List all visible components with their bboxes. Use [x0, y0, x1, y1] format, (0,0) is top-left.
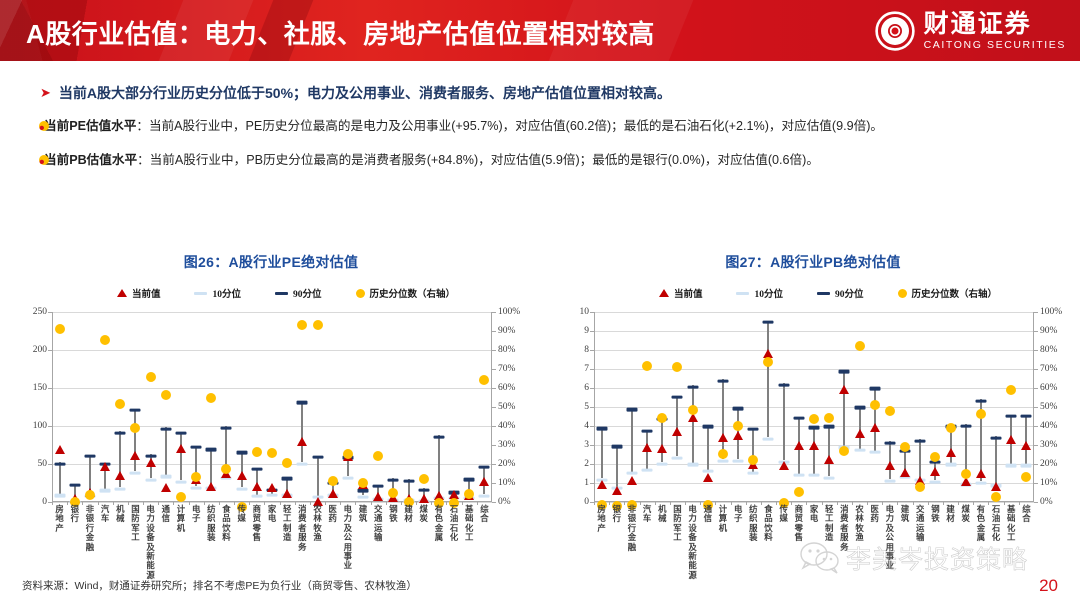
range-stem: [616, 445, 618, 487]
x-axis-category-label: 电力设备及新能源: [687, 505, 698, 580]
bullet-item-pe-label: 当前PE估值水平: [44, 119, 136, 133]
y2-axis-tick: [1034, 369, 1038, 370]
x-axis-tick: [958, 502, 959, 505]
historical-percentile-marker: [267, 448, 277, 458]
y2-axis-tick: [1034, 407, 1038, 408]
y2-axis-tick-label: 60%: [498, 383, 515, 393]
x-axis-category-label: 电力设备及新能源: [145, 505, 156, 580]
bar-light-icon: [736, 292, 749, 295]
gridline: [594, 369, 1034, 370]
historical-percentile-marker: [672, 362, 682, 372]
x-axis-category-label: 银行: [611, 505, 622, 524]
x-axis-category-label: 汽车: [642, 505, 653, 524]
x-axis-category-label: 商贸零售: [251, 505, 262, 543]
x-axis-tick: [867, 502, 868, 505]
percentile-90-marker: [763, 321, 774, 324]
bullet-item-pb-label: 当前PB估值水平: [44, 153, 137, 167]
percentile-10-marker: [236, 487, 247, 490]
bar-dark-icon: [817, 292, 830, 295]
x-axis-category-label: 交通运输: [915, 505, 926, 543]
x-axis-category-label: 食品饮料: [221, 505, 232, 543]
historical-percentile-marker: [991, 492, 1001, 502]
current-value-marker: [794, 441, 804, 450]
x-axis-category-label: 机械: [115, 505, 126, 524]
y2-axis-tick: [1034, 312, 1038, 313]
x-axis-tick: [52, 502, 53, 505]
x-axis-category-label: 有色金属: [975, 505, 986, 543]
gridline: [594, 407, 1034, 408]
x-axis-category-label: 消费者服务: [297, 505, 308, 552]
x-axis-tick: [882, 502, 883, 505]
x-axis-category-label: 机械: [657, 505, 668, 524]
y2-axis-tick: [1034, 502, 1038, 503]
brand-name-cn: 财通证券: [924, 12, 1066, 37]
percentile-10-marker: [945, 463, 956, 466]
current-value-marker: [161, 483, 171, 492]
percentile-10-marker: [733, 459, 744, 462]
range-stem: [874, 387, 876, 451]
legend-item-p90: 90分位: [275, 286, 322, 300]
x-axis-tick: [1019, 502, 1020, 505]
y2-axis-tick: [492, 388, 496, 389]
x-axis-tick: [670, 502, 671, 505]
legend-label-p10: 10分位: [754, 286, 783, 300]
y2-axis-tick-label: 20%: [1040, 459, 1057, 469]
current-value-marker: [176, 444, 186, 453]
bar-light-icon: [194, 292, 207, 295]
percentile-90-marker: [611, 445, 622, 448]
range-stem: [919, 439, 921, 478]
x-axis-category-label: 电力及公用事业: [342, 505, 353, 571]
y-axis-tick-label: 0: [42, 497, 47, 507]
range-stem: [59, 462, 61, 494]
chart-legend-pe: 当前值 10分位 90分位 历史分位数（右轴）: [6, 282, 536, 304]
x-axis-category-label: 煤炭: [960, 505, 971, 524]
current-value-marker: [55, 445, 65, 454]
x-axis-category-label: 综合: [1021, 505, 1032, 524]
percentile-90-marker: [717, 379, 728, 382]
bullet-item-pe: • 当前PE估值水平：当前A股行业中，PE历史分位最高的是电力及公用事业(+95…: [0, 102, 1080, 136]
percentile-10-marker: [191, 486, 202, 489]
x-axis-category-label: 通信: [702, 505, 713, 524]
percentile-90-marker: [191, 446, 202, 449]
current-value-marker: [809, 441, 819, 450]
percentile-10-marker: [642, 469, 653, 472]
y-axis-tick-label: 200: [33, 345, 47, 355]
y2-axis-tick-label: 0%: [498, 497, 511, 507]
x-axis-tick: [371, 502, 372, 505]
percentile-10-marker: [717, 459, 728, 462]
x-axis-tick: [416, 502, 417, 505]
x-axis-tick: [219, 502, 220, 505]
x-axis-tick: [98, 502, 99, 505]
bullet-item-pb-text: ：当前A股行业中，PB历史分位最高的是消费者服务(+84.8%)，对应估值(5.…: [137, 153, 819, 167]
percentile-90-marker: [54, 462, 65, 465]
caitong-logo-icon: [874, 10, 916, 52]
historical-percentile-marker: [718, 449, 728, 459]
historical-percentile-marker: [824, 413, 834, 423]
x-axis-tick: [806, 502, 807, 505]
gridline: [594, 331, 1034, 332]
x-axis-category-label: 基础化工: [464, 505, 475, 543]
current-value-marker: [627, 476, 637, 485]
x-axis-tick: [386, 502, 387, 505]
historical-percentile-marker: [794, 487, 804, 497]
legend-label-p90: 90分位: [835, 286, 864, 300]
x-axis-category-label: 建材: [945, 505, 956, 524]
historical-percentile-marker: [373, 451, 383, 461]
range-stem: [180, 432, 182, 481]
historical-percentile-marker: [809, 414, 819, 424]
historical-percentile-marker: [870, 400, 880, 410]
percentile-90-marker: [702, 425, 713, 428]
bullet-section: ➤ 当前A股大部分行业历史分位低于50%；电力及公用事业、消费者服务、房地产估值…: [0, 72, 1080, 170]
y-axis-tick-label: 250: [33, 307, 47, 317]
x-axis-category-label: 交通运输: [373, 505, 384, 543]
historical-percentile-marker: [176, 492, 186, 502]
range-stem: [783, 383, 785, 460]
range-stem: [134, 409, 136, 472]
current-value-marker: [252, 482, 262, 491]
y2-axis-tick: [492, 331, 496, 332]
x-axis-tick: [761, 502, 762, 505]
historical-percentile-marker: [915, 482, 925, 492]
current-value-marker: [373, 492, 383, 501]
x-axis-tick: [82, 502, 83, 505]
historical-percentile-marker: [328, 476, 338, 486]
x-axis-tick: [928, 502, 929, 505]
percentile-10-marker: [145, 478, 156, 481]
y2-axis-tick-label: 50%: [1040, 402, 1057, 412]
chart-panel-pb: 图27：A股行业PB绝对估值 当前值 10分位 90分位 历史分位数（右轴） 0…: [548, 252, 1078, 572]
percentile-10-marker: [342, 476, 353, 479]
percentile-90-marker: [236, 451, 247, 454]
percentile-10-marker: [160, 475, 171, 478]
x-axis-tick: [280, 502, 281, 505]
x-axis-tick: [594, 502, 595, 505]
current-value-marker: [946, 448, 956, 457]
y2-axis-tick-label: 30%: [498, 440, 515, 450]
current-value-marker: [479, 477, 489, 486]
y2-axis-tick-label: 60%: [1040, 383, 1057, 393]
y2-axis-tick: [492, 407, 496, 408]
range-stem: [631, 408, 633, 472]
x-axis-category-label: 建筑: [358, 505, 369, 524]
x-axis-category-label: 电力及公用事业: [884, 505, 895, 571]
x-axis-category-label: 家电: [267, 505, 278, 524]
y2-axis-tick-label: 40%: [1040, 421, 1057, 431]
legend-item-current: 当前值: [117, 286, 161, 300]
x-axis-tick: [640, 502, 641, 505]
percentile-90-marker: [433, 435, 444, 438]
historical-percentile-marker: [930, 452, 940, 462]
range-stem: [995, 436, 997, 484]
y2-axis-tick: [492, 445, 496, 446]
x-axis-tick: [791, 502, 792, 505]
percentile-90-marker: [373, 485, 384, 488]
percentile-90-marker: [778, 383, 789, 386]
gridline: [52, 350, 492, 351]
percentile-90-marker: [1006, 415, 1017, 418]
y2-axis-tick: [1034, 483, 1038, 484]
range-stem: [859, 406, 861, 449]
percentile-90-marker: [312, 456, 323, 459]
y2-axis-tick-label: 90%: [498, 326, 515, 336]
historical-percentile-marker: [313, 320, 323, 330]
percentile-90-marker: [297, 401, 308, 404]
current-value-marker: [130, 451, 140, 460]
current-value-marker: [657, 444, 667, 453]
y2-axis-tick: [492, 502, 496, 503]
current-value-marker: [976, 469, 986, 478]
legend-item-p90: 90分位: [817, 286, 864, 300]
historical-percentile-marker: [961, 469, 971, 479]
x-axis-category-label: 基础化工: [1006, 505, 1017, 543]
y2-axis-tick-label: 80%: [498, 345, 515, 355]
legend-label-percentile: 历史分位数（右轴）: [370, 286, 456, 300]
x-axis-category-label: 石油石化: [449, 505, 460, 543]
circle-icon: [356, 289, 365, 298]
historical-percentile-marker: [221, 464, 231, 474]
percentile-10-marker: [130, 471, 141, 474]
gridline: [594, 388, 1034, 389]
current-value-marker: [282, 489, 292, 498]
percentile-10-marker: [297, 462, 308, 465]
x-axis-category-label: 电子: [733, 505, 744, 524]
x-axis-tick: [264, 502, 265, 505]
x-axis-tick: [685, 502, 686, 505]
y-axis-tick-label: 100: [33, 421, 47, 431]
percentile-90-marker: [388, 478, 399, 481]
x-axis-tick: [988, 502, 989, 505]
historical-percentile-marker: [1021, 472, 1031, 482]
current-value-marker: [703, 473, 713, 482]
historical-percentile-marker: [900, 442, 910, 452]
percentile-90-marker: [1021, 415, 1032, 418]
bullet-item-pe-text: ：当前A股行业中，PE历史分位最高的是电力及公用事业(+95.7%)，对应估值(…: [136, 119, 883, 133]
x-axis-tick: [295, 502, 296, 505]
historical-percentile-marker: [839, 446, 849, 456]
bullet-dot-icon: •: [39, 155, 49, 165]
x-axis-category-label: 纺织服装: [206, 505, 217, 543]
current-value-marker: [146, 458, 156, 467]
x-axis-category-label: 轻工制造: [824, 505, 835, 543]
x-axis-tick: [325, 502, 326, 505]
x-axis-tick: [249, 502, 250, 505]
y2-axis-tick-label: 70%: [498, 364, 515, 374]
plot-area-pb: 0123456789100%10%20%30%40%50%60%70%80%90…: [548, 304, 1078, 572]
arrow-right-icon: ➤: [40, 84, 51, 101]
range-stem: [165, 427, 167, 475]
x-axis-category-label: 煤炭: [418, 505, 429, 524]
percentile-10-marker: [809, 473, 820, 476]
x-axis-category-label: 传媒: [236, 505, 247, 524]
current-value-marker: [839, 385, 849, 394]
x-axis-tick: [913, 502, 914, 505]
x-axis-category-label: 医药: [327, 505, 338, 524]
historical-percentile-marker: [464, 489, 474, 499]
x-axis-tick: [173, 502, 174, 505]
x-axis-category-label: 通信: [160, 505, 171, 524]
current-value-marker: [328, 489, 338, 498]
historical-percentile-marker: [479, 375, 489, 385]
y2-axis-tick-label: 10%: [1040, 478, 1057, 488]
current-value-marker: [733, 431, 743, 440]
percentile-90-marker: [403, 479, 414, 482]
y2-axis-tick: [492, 483, 496, 484]
historical-percentile-marker: [343, 449, 353, 459]
legend-label-p90: 90分位: [293, 286, 322, 300]
range-stem: [676, 396, 678, 457]
circle-icon: [898, 289, 907, 298]
historical-percentile-marker: [191, 472, 201, 482]
percentile-90-marker: [221, 426, 232, 429]
current-value-marker: [597, 480, 607, 489]
x-axis-category-label: 医药: [869, 505, 880, 524]
current-value-marker: [930, 467, 940, 476]
y-axis-tick-label: 10: [580, 307, 590, 317]
historical-percentile-marker: [1006, 385, 1016, 395]
percentile-10-marker: [175, 480, 186, 483]
y-axis-tick-label: 150: [33, 383, 47, 393]
y2-axis-tick: [492, 312, 496, 313]
x-axis-tick: [158, 502, 159, 505]
legend-label-current: 当前值: [132, 286, 161, 300]
percentile-10-marker: [1021, 464, 1032, 467]
x-axis-tick: [310, 502, 311, 505]
range-stem: [601, 427, 603, 478]
x-axis-category-label: 石油石化: [991, 505, 1002, 543]
x-axis-tick: [731, 502, 732, 505]
percentile-90-marker: [642, 430, 653, 433]
range-stem: [438, 435, 440, 497]
range-stem: [301, 401, 303, 462]
historical-percentile-marker: [946, 423, 956, 433]
x-axis-tick: [715, 502, 716, 505]
x-axis-category-label: 综合: [479, 505, 490, 524]
historical-percentile-marker: [130, 423, 140, 433]
percentile-90-marker: [854, 406, 865, 409]
range-stem: [1025, 415, 1027, 464]
percentile-10-marker: [1006, 464, 1017, 467]
x-axis-tick: [1004, 502, 1005, 505]
range-stem: [317, 456, 319, 496]
percentile-90-marker: [809, 426, 820, 429]
percentile-10-marker: [930, 480, 941, 483]
y2-axis-tick: [1034, 426, 1038, 427]
percentile-10-marker: [793, 473, 804, 476]
x-axis-category-label: 房地产: [54, 505, 65, 533]
x-axis-category-label: 轻工制造: [282, 505, 293, 543]
y-axis-tick-label: 2: [584, 459, 589, 469]
current-value-marker: [885, 461, 895, 470]
range-stem: [843, 370, 845, 446]
historical-percentile-marker: [688, 405, 698, 415]
current-value-marker: [824, 455, 834, 464]
current-value-marker: [267, 483, 277, 492]
percentile-10-marker: [975, 481, 986, 484]
legend-label-current: 当前值: [674, 286, 703, 300]
axis-right: [1033, 312, 1034, 502]
x-axis-category-label: 农林牧渔: [854, 505, 865, 543]
x-axis-category-label: 消费者服务: [839, 505, 850, 552]
percentile-90-marker: [115, 431, 126, 434]
percentile-90-marker: [282, 477, 293, 480]
y2-axis-tick-label: 70%: [1040, 364, 1057, 374]
y-axis-tick-label: 1: [584, 478, 589, 488]
y-axis-tick-label: 5: [584, 402, 589, 412]
percentile-90-marker: [251, 468, 262, 471]
percentile-90-marker: [69, 484, 80, 487]
percentile-90-marker: [975, 399, 986, 402]
bullet-item-pb: • 当前PB估值水平：当前A股行业中，PB历史分位最高的是消费者服务(+84.8…: [0, 136, 1080, 170]
gridline: [594, 502, 1034, 503]
y2-axis-tick-label: 100%: [498, 307, 520, 317]
current-value-marker: [419, 494, 429, 503]
y2-axis-tick: [492, 426, 496, 427]
x-axis-category-label: 电子: [191, 505, 202, 524]
percentile-90-marker: [915, 439, 926, 442]
percentile-90-marker: [626, 408, 637, 411]
x-axis-tick: [973, 502, 974, 505]
y2-axis-tick: [1034, 331, 1038, 332]
y2-axis-tick-label: 0%: [1040, 497, 1053, 507]
y2-axis-tick: [1034, 445, 1038, 446]
y-axis-tick-label: 6: [584, 383, 589, 393]
range-stem: [692, 385, 694, 463]
bullet-item-pe-content: 当前PE估值水平：当前A股行业中，PE历史分位最高的是电力及公用事业(+95.7…: [44, 116, 883, 136]
percentile-10-marker: [763, 437, 774, 440]
plot-inner-pe: 0501001502002500%10%20%30%40%50%60%70%80…: [52, 312, 492, 502]
x-axis-tick: [189, 502, 190, 505]
current-value-marker: [642, 443, 652, 452]
gridline: [594, 350, 1034, 351]
y2-axis-tick-label: 40%: [498, 421, 515, 431]
page-number: 20: [1039, 576, 1058, 596]
percentile-90-marker: [687, 385, 698, 388]
gridline: [52, 426, 492, 427]
percentile-10-marker: [854, 449, 865, 452]
y-axis-tick-label: 0: [584, 497, 589, 507]
y2-axis-tick-label: 100%: [1040, 307, 1062, 317]
historical-percentile-marker: [358, 478, 368, 488]
percentile-10-marker: [267, 494, 278, 497]
historical-percentile-marker: [733, 421, 743, 431]
y2-axis-tick-label: 50%: [498, 402, 515, 412]
percentile-90-marker: [733, 407, 744, 410]
percentile-90-marker: [130, 409, 141, 412]
historical-percentile-marker: [55, 324, 65, 334]
percentile-10-marker: [824, 476, 835, 479]
legend-item-p10: 10分位: [194, 286, 241, 300]
current-value-marker: [206, 482, 216, 491]
percentile-10-marker: [748, 472, 759, 475]
x-axis-tick: [700, 502, 701, 505]
y-axis-tick-label: 9: [584, 326, 589, 336]
percentile-10-marker: [672, 456, 683, 459]
x-axis-tick: [401, 502, 402, 505]
axis-bottom: [594, 501, 1034, 502]
x-axis-category-label: 钢铁: [388, 505, 399, 524]
current-value-marker: [612, 486, 622, 495]
y2-axis-tick-label: 10%: [498, 478, 515, 488]
percentile-90-marker: [839, 370, 850, 373]
percentile-90-marker: [464, 478, 475, 481]
x-axis-category-label: 钢铁: [930, 505, 941, 524]
bullet-dot-icon: •: [39, 121, 49, 131]
legend-item-percentile: 历史分位数（右轴）: [356, 286, 456, 300]
x-axis-category-label: 有色金属: [433, 505, 444, 543]
